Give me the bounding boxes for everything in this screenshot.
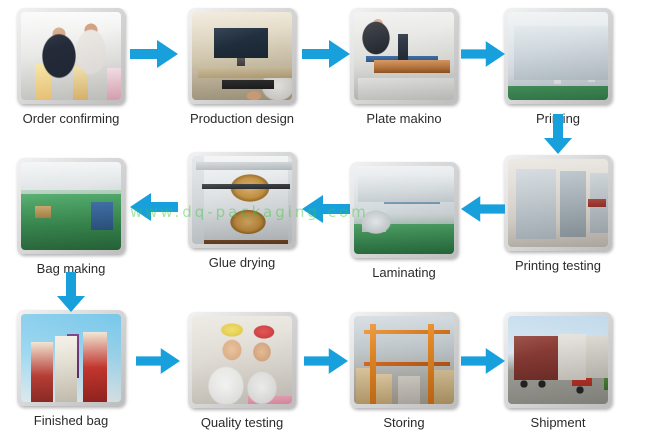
process-flow-diagram: www.dq-packaging.com Order confirming Pr…: [0, 0, 650, 431]
photo-frame: [350, 312, 458, 408]
laminating-photo: [354, 166, 454, 254]
photo-frame: [188, 152, 296, 248]
photo-frame: [504, 312, 612, 408]
step-label: Laminating: [350, 265, 458, 280]
photo-frame: [17, 310, 125, 406]
arrow-left-printing-testing-to-laminating: [461, 195, 505, 223]
step-label: Shipment: [504, 415, 612, 430]
photo-frame: [188, 8, 296, 104]
step-order-confirming[interactable]: Order confirming: [17, 8, 125, 126]
step-label: Order confirming: [17, 111, 125, 126]
quality-testing-photo: [192, 316, 292, 404]
production-design-photo: [192, 12, 292, 100]
step-label: Quality testing: [188, 415, 296, 430]
photo-frame: [504, 8, 612, 104]
step-production-design[interactable]: Production design: [188, 8, 296, 126]
order-confirming-photo: [21, 12, 121, 100]
step-bag-making[interactable]: Bag making: [17, 158, 125, 276]
photo-frame: [188, 312, 296, 408]
photo-frame: [17, 158, 125, 254]
printing-photo: [508, 12, 608, 100]
arrow-right-finished-bag-to-quality-testing: [136, 348, 180, 374]
step-storing[interactable]: Storing: [350, 312, 458, 430]
arrow-down-printing-to-printing-testing: [544, 114, 572, 154]
arrow-right-plate-to-printing: [461, 40, 505, 68]
step-laminating[interactable]: Laminating: [350, 162, 458, 280]
arrow-right-quality-testing-to-storing: [304, 348, 348, 374]
printing-testing-photo: [508, 159, 608, 247]
storing-photo: [354, 316, 454, 404]
step-label: Storing: [350, 415, 458, 430]
step-label: Printing testing: [504, 258, 612, 273]
arrow-right-design-to-plate: [302, 40, 350, 68]
arrow-left-laminating-to-glue-drying: [302, 195, 350, 223]
step-label: Production design: [188, 111, 296, 126]
step-printing-testing[interactable]: Printing testing: [504, 155, 612, 273]
bag-making-photo: [21, 162, 121, 250]
shipment-photo: [508, 316, 608, 404]
step-label: Glue drying: [188, 255, 296, 270]
glue-drying-photo: [192, 156, 292, 244]
step-glue-drying[interactable]: Glue drying: [188, 152, 296, 270]
arrow-right-storing-to-shipment: [461, 348, 505, 374]
step-printing[interactable]: Printing: [504, 8, 612, 126]
arrow-right-order-to-design: [130, 40, 178, 68]
step-finished-bag[interactable]: Finished bag: [17, 310, 125, 428]
step-plate-making[interactable]: Plate makino: [350, 8, 458, 126]
arrow-left-glue-drying-to-bag-making: [130, 193, 178, 221]
arrow-down-bag-making-to-finished-bag: [57, 272, 85, 312]
plate-making-photo: [354, 12, 454, 100]
step-label: Plate makino: [350, 111, 458, 126]
photo-frame: [350, 8, 458, 104]
finished-bag-photo: [21, 314, 121, 402]
step-label: Finished bag: [17, 413, 125, 428]
photo-frame: [504, 155, 612, 251]
photo-frame: [350, 162, 458, 258]
photo-frame: [17, 8, 125, 104]
step-quality-testing[interactable]: Quality testing: [188, 312, 296, 430]
step-shipment[interactable]: Shipment: [504, 312, 612, 430]
